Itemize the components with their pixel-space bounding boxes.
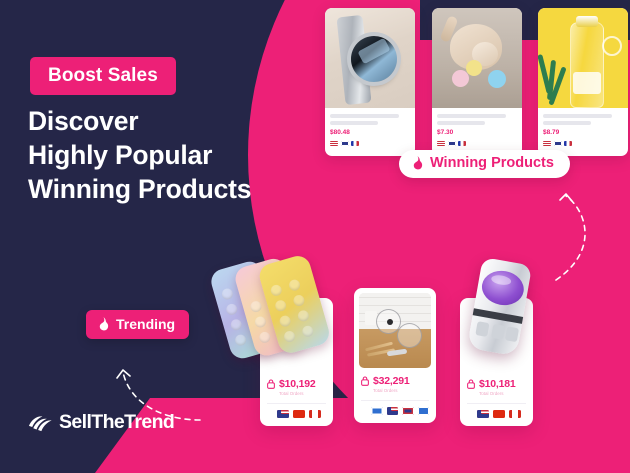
flag-row: [437, 141, 517, 147]
flag-us: [543, 141, 551, 147]
flag-ca: [509, 410, 521, 418]
flag-cn: [493, 410, 505, 418]
product-meta: $32,291 Total Orders: [354, 376, 436, 423]
headline-line-2: Highly Popular: [28, 139, 251, 173]
flag-uk: [554, 141, 562, 147]
flag-us: [477, 410, 489, 418]
brand-logo: SellTheTrend: [27, 413, 174, 433]
product-card[interactable]: $8.79: [538, 8, 628, 156]
placeholder-line: [330, 114, 399, 118]
arrow-head-left: [117, 370, 130, 378]
cat-toy-balls-photo: [432, 8, 522, 108]
flag-fr: [351, 141, 359, 147]
flag-row: [361, 407, 429, 415]
yellow-water-bottle-photo: [538, 8, 628, 108]
flag-fi: [418, 407, 430, 415]
product-meta: $7.30: [432, 108, 522, 151]
product-card[interactable]: $32,291 Total Orders: [354, 288, 436, 423]
product-meta: $8.79: [538, 108, 628, 151]
flag-fr: [564, 141, 572, 147]
placeholder-line: [330, 121, 378, 125]
order-amount-row: $32,291: [361, 376, 429, 387]
flag-row: [267, 410, 326, 418]
flag-us: [277, 410, 289, 418]
promo-banner: Boost Sales Discover Highly Popular Winn…: [0, 0, 630, 473]
flag-uk: [448, 141, 456, 147]
winning-products-label: Winning Products: [430, 156, 554, 171]
order-amount-row: $10,181: [467, 379, 526, 390]
product-meta: $10,192 Total Orders: [260, 379, 333, 426]
divider: [361, 400, 429, 401]
kitchen-utensils-photo: [359, 293, 431, 368]
flag-ca: [309, 410, 321, 418]
order-caption: Total Orders: [279, 392, 326, 397]
boost-sales-label: Boost Sales: [48, 65, 158, 86]
product-price: $7.30: [437, 130, 517, 137]
product-card[interactable]: $7.30: [432, 8, 522, 156]
headline-line-1: Discover: [28, 105, 251, 139]
order-amount: $10,192: [279, 379, 316, 390]
product-meta: $10,181 Total Orders: [460, 379, 533, 426]
flag-uk: [402, 407, 414, 415]
swoosh-icon: [27, 413, 54, 433]
placeholder-line: [437, 121, 485, 125]
order-caption: Total Orders: [479, 392, 526, 397]
flag-row: [543, 141, 623, 147]
trending-label: Trending: [116, 317, 175, 331]
lock-icon: [267, 379, 275, 389]
brand-logo-text: SellTheTrend: [59, 413, 174, 433]
order-amount-row: $10,192: [267, 379, 326, 390]
flag-cn: [293, 410, 305, 418]
divider: [267, 403, 326, 404]
winning-products-badge: Winning Products: [399, 150, 570, 178]
flag-eu: [371, 407, 383, 415]
flag-us: [437, 141, 445, 147]
order-amount: $32,291: [373, 376, 410, 387]
flame-icon: [412, 156, 423, 170]
headline-line-3: Winning Products: [28, 173, 251, 207]
flame-icon: [98, 317, 109, 331]
product-price: $80.48: [330, 130, 410, 137]
order-amount: $10,181: [479, 379, 516, 390]
flag-row: [467, 410, 526, 418]
product-meta: $80.48: [325, 108, 415, 151]
flag-us: [330, 141, 338, 147]
lock-icon: [361, 376, 369, 386]
boost-sales-badge: Boost Sales: [30, 57, 176, 95]
smart-watch-photo: [325, 8, 415, 108]
order-caption: Total Orders: [373, 389, 429, 394]
flag-us: [387, 407, 399, 415]
flag-fr: [458, 141, 466, 147]
flag-uk: [341, 141, 349, 147]
page-title: Discover Highly Popular Winning Products: [28, 105, 251, 207]
placeholder-line: [543, 114, 612, 118]
divider: [467, 403, 526, 404]
product-card[interactable]: $80.48: [325, 8, 415, 156]
flag-row: [330, 141, 410, 147]
lock-icon: [467, 379, 475, 389]
product-price: $8.79: [543, 130, 623, 137]
trending-badge: Trending: [86, 310, 189, 339]
placeholder-line: [543, 121, 591, 125]
placeholder-line: [437, 114, 506, 118]
